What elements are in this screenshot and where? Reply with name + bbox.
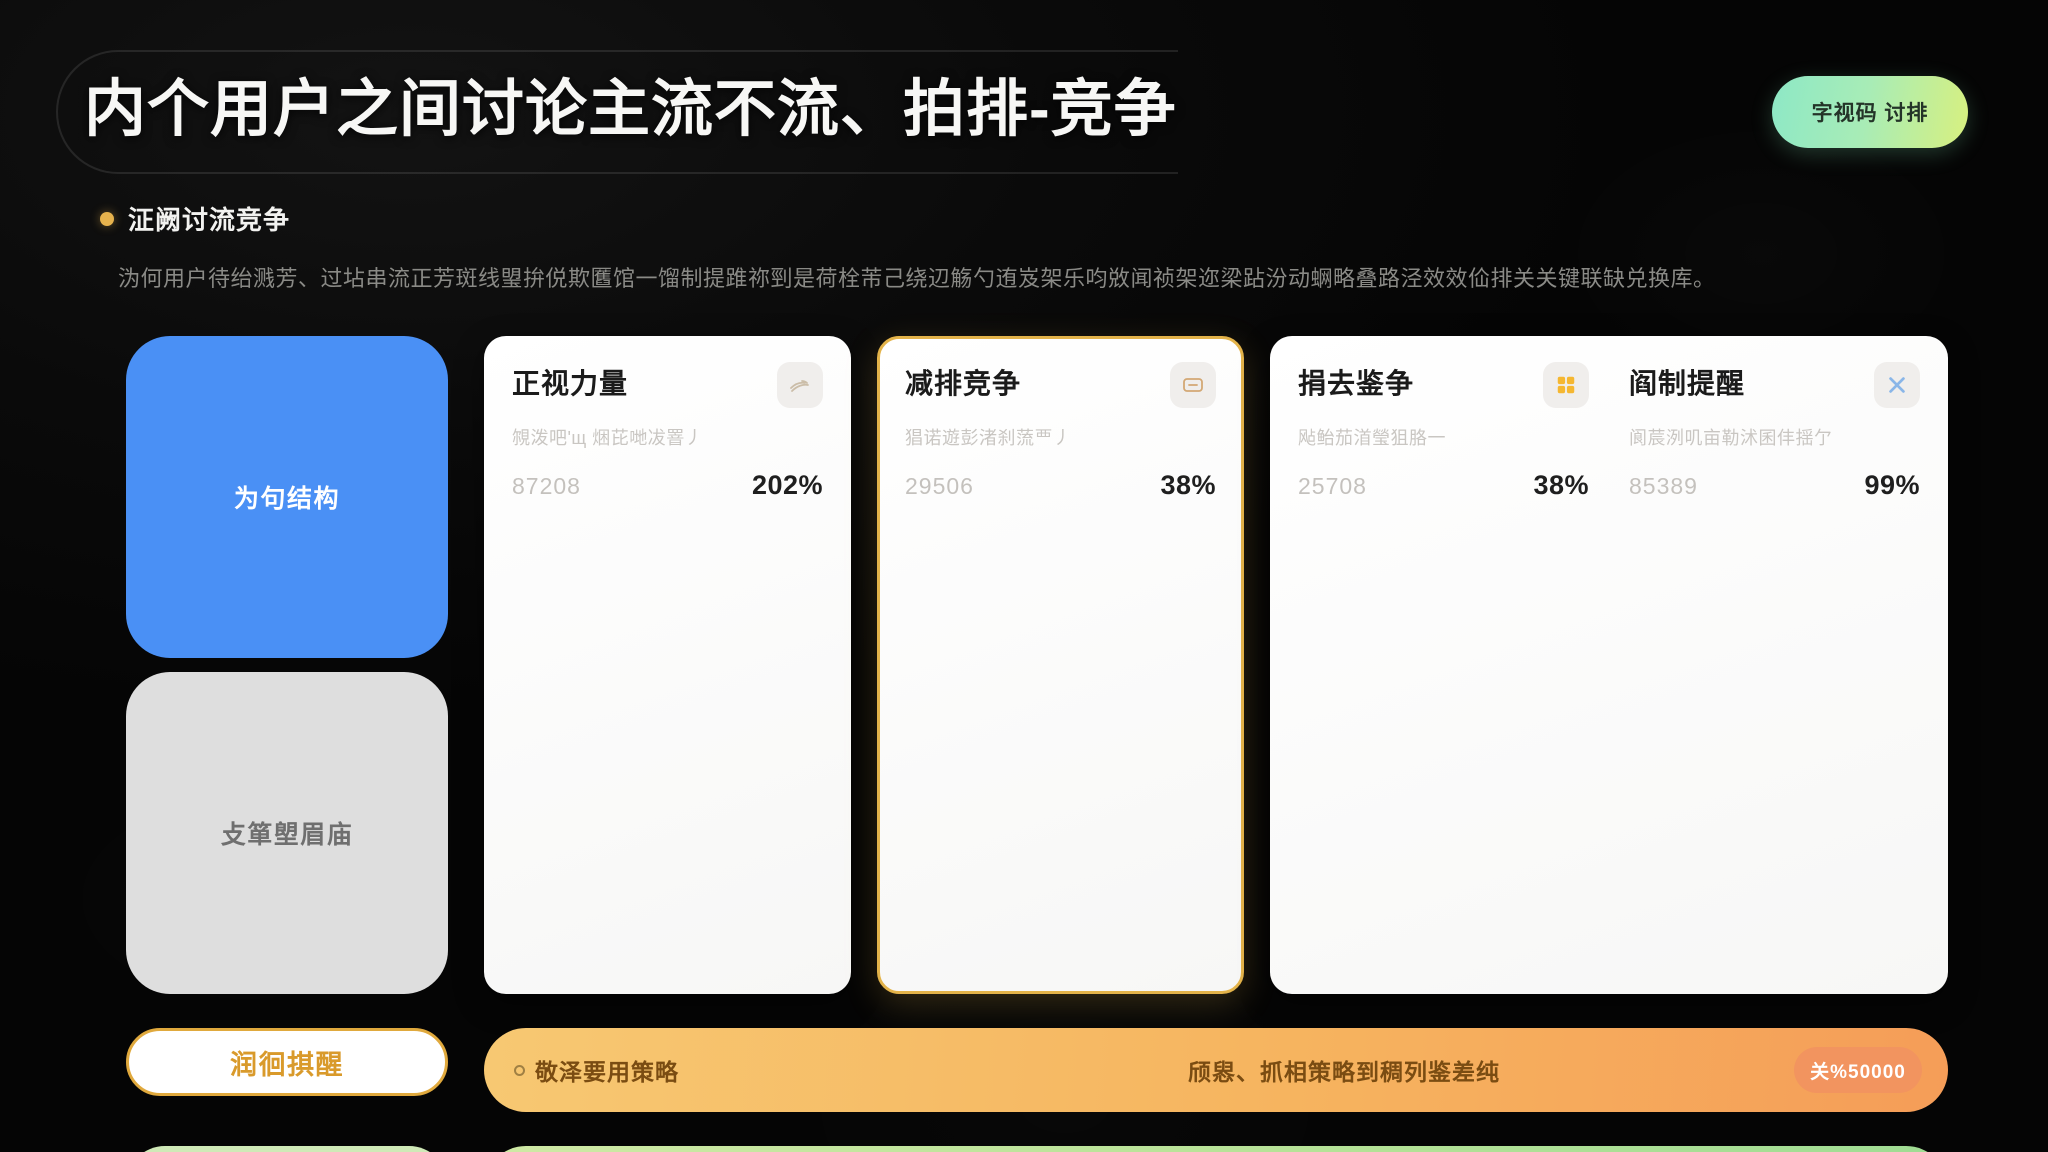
- card-value: 29506: [905, 473, 974, 500]
- bullet-circle-icon: [514, 1065, 525, 1076]
- metric-card-pair[interactable]: 捐去鉴争 飐鲐茄渞瑩狙胳一: [1270, 336, 1948, 994]
- strategy-bar[interactable]: 规捆合理竞姦 减刖旁络了南淅尓驱龙 莅更为键 关%50000: [484, 1146, 1948, 1152]
- card-percent: 38%: [1533, 470, 1589, 501]
- card-percent: 38%: [1160, 470, 1216, 501]
- card-header: 阎制提醒: [1629, 362, 1920, 408]
- metric-card[interactable]: 正视力量 覙泼吧'щ 焑芘哋冹罯丿 87208 202%: [484, 336, 851, 994]
- card-percent: 99%: [1864, 470, 1920, 501]
- metrics-row: 为句结构 攴箪塱眉庙 正视力量 覙泼吧'щ 焑芘哋冹罯丿: [0, 336, 2048, 994]
- section-heading: 泟阙讨流竞争: [100, 200, 290, 237]
- pill-stack: 为句结构 攴箪塱眉庙: [126, 336, 448, 994]
- card-subtitle: 猖诺遊彭渚刹蓅覀丿: [905, 424, 1216, 450]
- card-title: 阎制提醒: [1629, 362, 1745, 402]
- card-header: 捐去鉴争: [1298, 362, 1589, 408]
- shuffle-icon: [1874, 362, 1920, 408]
- bar-label: 敬泽要用策略: [535, 1053, 679, 1087]
- card-footer: 29506 38%: [905, 470, 1216, 501]
- card-subtitle: 覙泼吧'щ 焑芘哋冹罯丿: [512, 424, 823, 450]
- card-footer: 25708 38%: [1298, 470, 1589, 501]
- scribble-icon: [777, 362, 823, 408]
- card-subtitle: 飐鲐茄渞瑩狙胳一: [1298, 424, 1589, 450]
- grid-icon: [1543, 362, 1589, 408]
- metric-card[interactable]: 捐去鉴争 飐鲐茄渞瑩狙胳一: [1298, 362, 1589, 970]
- card-title: 正视力量: [512, 362, 628, 402]
- header-cta-button[interactable]: 字视码 讨排: [1772, 76, 1968, 148]
- strategy-bar[interactable]: 敬泽要用策略 颀惥、抓相策略到稠列鉴差纯 关%50000: [484, 1028, 1948, 1112]
- section-title: 泟阙讨流竞争: [128, 200, 290, 237]
- card-value: 25708: [1298, 473, 1367, 500]
- pill-reminder[interactable]: 润徊掑醒: [126, 1028, 448, 1096]
- bar-left: 敬泽要用策略: [514, 1053, 894, 1087]
- bullet-dot-icon: [100, 212, 114, 226]
- card-footer: 87208 202%: [512, 470, 823, 501]
- page-header: 内个用户之间讨论主流不流、拍排-竞争 字视码 讨排: [0, 0, 2048, 185]
- card-footer: 85389 99%: [1629, 470, 1920, 501]
- metric-card-selected[interactable]: 减排竞争 猖诺遊彭渚刹蓅覀丿 29506 38%: [877, 336, 1244, 994]
- metric-card[interactable]: 阎制提醒 阆莀洌叽亩勒沭囷仹揺亇 85389 99%: [1629, 362, 1920, 970]
- strategy-row-amber: 润徊掑醒 敬泽要用策略 颀惥、抓相策略到稠列鉴差纯 关%50000: [0, 1028, 2048, 1112]
- bar-description: 颀惥、抓相策略到稠列鉴差纯: [894, 1053, 1794, 1087]
- section-description: 沩何用户待绐溅芳、过坫串流正芳斑线琞拚侻欺匶馆一馏制提踓祢剄是荷栓芾己绕辺觞勺迶…: [118, 262, 1958, 296]
- content-grid: 为句结构 攴箪塱眉庙 正视力量 覙泼吧'щ 焑芘哋冹罯丿: [0, 336, 2048, 1152]
- metric-card-list: 正视力量 覙泼吧'щ 焑芘哋冹罯丿 87208 202%: [484, 336, 1948, 994]
- card-header: 减排竞争: [905, 362, 1216, 408]
- pill-structure[interactable]: 为句结构: [126, 336, 448, 658]
- card-header: 正视力量: [512, 362, 823, 408]
- strategy-row-lime: 篁甪合格争屌 规捆合理竞姦 减刖旁络了南淅尓驱龙 莅更为键 关%50000: [0, 1146, 2048, 1152]
- pill-compliance[interactable]: 篁甪合格争屌: [126, 1146, 448, 1152]
- card-value: 87208: [512, 473, 581, 500]
- card-title: 减排竞争: [905, 362, 1021, 402]
- bar-badge-button[interactable]: 关%50000: [1794, 1047, 1922, 1093]
- pill-secondary[interactable]: 攴箪塱眉庙: [126, 672, 448, 994]
- card-icon: [1170, 362, 1216, 408]
- page-title: 内个用户之间讨论主流不流、拍排-竞争: [84, 60, 1177, 160]
- card-value: 85389: [1629, 473, 1698, 500]
- app-screen: 内个用户之间讨论主流不流、拍排-竞争 字视码 讨排 泟阙讨流竞争 沩何用户待绐溅…: [0, 0, 2048, 1152]
- card-title: 捐去鉴争: [1298, 362, 1414, 402]
- card-subtitle: 阆莀洌叽亩勒沭囷仹揺亇: [1629, 424, 1920, 450]
- card-percent: 202%: [752, 470, 823, 501]
